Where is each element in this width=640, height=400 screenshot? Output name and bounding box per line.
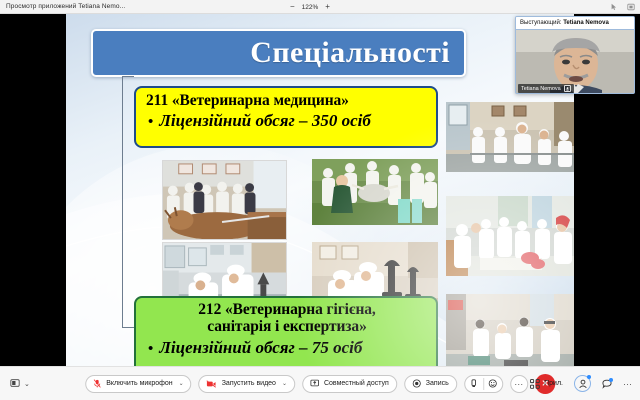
photo-students-with-cow: [162, 160, 287, 240]
slide-bracket-connector: [122, 76, 134, 328]
bullet-marker: •: [148, 342, 153, 357]
zoom-controls: − 122% +: [290, 0, 330, 14]
unmute-microphone-label: Включить микрофон: [106, 380, 172, 387]
specialty-211-bullet-text: Ліцензійний обсяг – 350 осіб: [159, 111, 371, 131]
speaker-label: Выступающий: Tetiana Nemova: [520, 20, 609, 26]
bullet-marker: •: [148, 115, 153, 130]
unmute-microphone-button[interactable]: Включить микрофон ⌄: [85, 375, 191, 393]
start-video-label: Запустить видео: [222, 380, 276, 387]
window-title: Просмотр приложений Tetiana Nemo...: [6, 3, 125, 10]
participants-badge: [587, 375, 591, 379]
share-screen-icon: [310, 375, 319, 393]
zoom-share-view-window: Просмотр приложений Tetiana Nemo... − 12…: [0, 0, 640, 400]
window-title-bar: Просмотр приложений Tetiana Nemo... − 12…: [0, 0, 640, 14]
speaker-panel-header: Выступающий: Tetiana Nemova: [516, 17, 634, 30]
specialty-211-heading: 211 «Ветеринарна медицина»: [146, 92, 428, 109]
speaker-name: Tetiana Nemova: [563, 20, 609, 26]
participants-button[interactable]: [574, 375, 591, 392]
toolbar-center-group: Включить микрофон ⌄ Запустить видео ⌄ Со…: [85, 374, 555, 394]
reactions-icon[interactable]: [484, 375, 502, 393]
specialty-212-heading-line1: 212 «Ветеринарна гігієна,: [146, 301, 428, 318]
mic-muted-icon: [564, 85, 571, 92]
slide-title: Спеціальності: [250, 36, 464, 70]
participants-icon: [578, 379, 588, 389]
specialty-212-bullet: • Ліцензійний обсяг – 75 осіб: [146, 338, 428, 358]
fullscreen-icon[interactable]: [627, 3, 635, 11]
apps-button[interactable]: Прил.: [530, 379, 563, 389]
remote-control-icon[interactable]: [610, 3, 618, 11]
start-video-button[interactable]: Запустить видео ⌄: [199, 375, 295, 393]
toolbar-right-group: Прил. ···: [530, 375, 632, 392]
microphone-muted-icon: [93, 375, 101, 393]
photo-outdoor-animal-exam: [312, 159, 438, 225]
photo-lab-bench-class: [446, 102, 574, 172]
zoom-out-button[interactable]: −: [290, 3, 295, 11]
specialty-212-heading-line2: санітарія і експертиза»: [146, 318, 428, 335]
photo-students-equipment: [446, 294, 574, 366]
specialty-box-211: 211 «Ветеринарна медицина» • Ліцензійний…: [134, 86, 438, 148]
speaker-prefix: Выступающий:: [520, 20, 562, 26]
record-icon: [412, 375, 421, 393]
view-layout-icon[interactable]: [10, 375, 20, 393]
video-camera-off-icon: [207, 375, 217, 393]
meeting-toolbar: ⌄ Включить микрофон ⌄ Запустить видео ⌄: [0, 366, 640, 400]
speaker-video-name: Tetiana Nemova: [521, 86, 561, 92]
active-speaker-panel[interactable]: Выступающий: Tetiana Nemova: [515, 16, 635, 94]
share-screen-button[interactable]: Совместный доступ: [302, 375, 397, 393]
specialty-211-bullet: • Ліцензійний обсяг – 350 осіб: [146, 111, 428, 131]
specialty-box-212: 212 «Ветеринарна гігієна, санітарія і ек…: [134, 296, 438, 366]
more-options-button[interactable]: ···: [510, 375, 528, 393]
chat-button[interactable]: [602, 379, 612, 389]
zoom-level-value: 122%: [302, 4, 319, 11]
chat-badge: [609, 378, 613, 382]
presentation-slide: Спеціальності: [66, 14, 574, 366]
speaker-video-name-badge: Tetiana Nemova: [518, 84, 574, 93]
record-label: Запись: [426, 380, 449, 387]
zoom-in-button[interactable]: +: [325, 3, 330, 11]
record-button[interactable]: Запись: [404, 375, 457, 393]
photo-group-lab-table: [446, 196, 574, 276]
more-options-icon: ···: [514, 379, 523, 389]
specialty-212-bullet-text: Ліцензійний обсяг – 75 осіб: [159, 338, 362, 358]
video-chevron-icon[interactable]: ⌄: [282, 380, 287, 387]
speaker-video-feed[interactable]: Tetiana Nemova: [516, 30, 635, 94]
whiteboard-icon[interactable]: [465, 375, 483, 393]
slide-title-banner: Спеціальності: [91, 29, 466, 77]
apps-label: Прил.: [544, 380, 563, 387]
view-layout-chevron-icon[interactable]: ⌄: [24, 380, 30, 388]
toolbar-overflow-button[interactable]: ···: [623, 379, 632, 389]
toolbar-left-group: ⌄: [10, 375, 30, 393]
whiteboard-reactions-group: [464, 375, 503, 393]
microphone-chevron-icon[interactable]: ⌄: [179, 380, 184, 387]
share-screen-label: Совместный доступ: [324, 380, 389, 387]
window-controls: [610, 0, 635, 14]
apps-grid-icon: [530, 379, 540, 389]
